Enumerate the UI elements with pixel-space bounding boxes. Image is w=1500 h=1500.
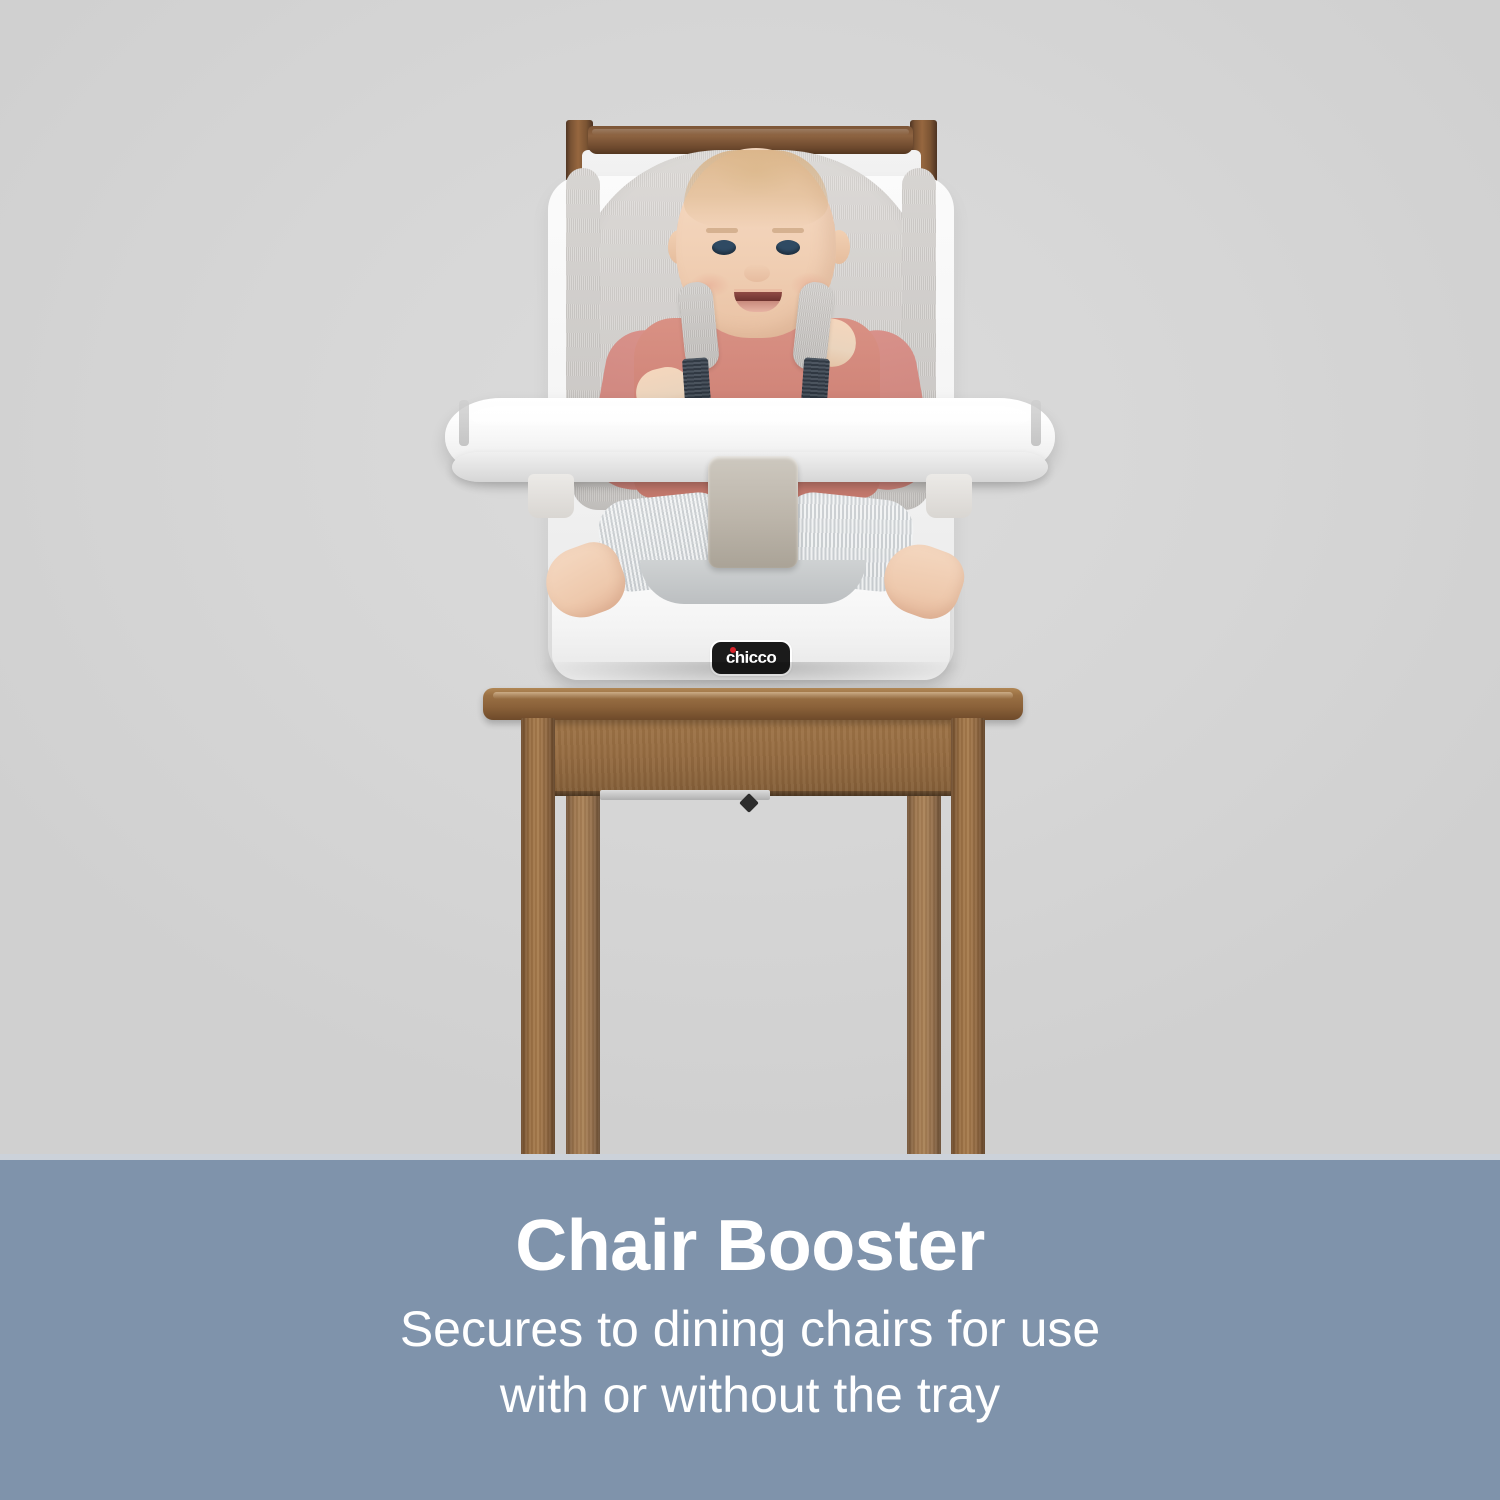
banner-subtitle-line-1: Secures to dining chairs for use (0, 1296, 1500, 1362)
chicco-logo-dot (730, 647, 736, 653)
banner-subtitle-line-2: with or without the tray (0, 1362, 1500, 1428)
baby-eye-right (776, 240, 800, 255)
harness-buckle (708, 456, 798, 568)
tray-arm-right (926, 474, 972, 518)
product-image-stage: chicco Chair Booster Secures t (0, 0, 1500, 1500)
tray-notch-right (1031, 400, 1041, 446)
tray-arm-left (528, 474, 574, 518)
baby-eye-left (712, 240, 736, 255)
table-leg-front-left (521, 718, 555, 1188)
baby-nose (744, 264, 770, 282)
banner-subtitle: Secures to dining chairs for use with or… (0, 1296, 1500, 1428)
table-top (483, 688, 1023, 720)
seat-drop-shadow (540, 662, 960, 688)
banner-title: Chair Booster (0, 1208, 1500, 1284)
baby-eyebrow-left (706, 228, 738, 233)
table-leg-front-right (951, 718, 985, 1188)
table-apron (521, 718, 985, 796)
banner-content: Chair Booster Secures to dining chairs f… (0, 1160, 1500, 1428)
baby-eyebrow-right (772, 228, 804, 233)
product-photo: chicco (0, 0, 1500, 1160)
tray-gloss-highlight (470, 406, 1030, 428)
feature-banner: Chair Booster Secures to dining chairs f… (0, 1160, 1500, 1500)
tray-notch-left (459, 400, 469, 446)
baby-hair (684, 150, 828, 228)
